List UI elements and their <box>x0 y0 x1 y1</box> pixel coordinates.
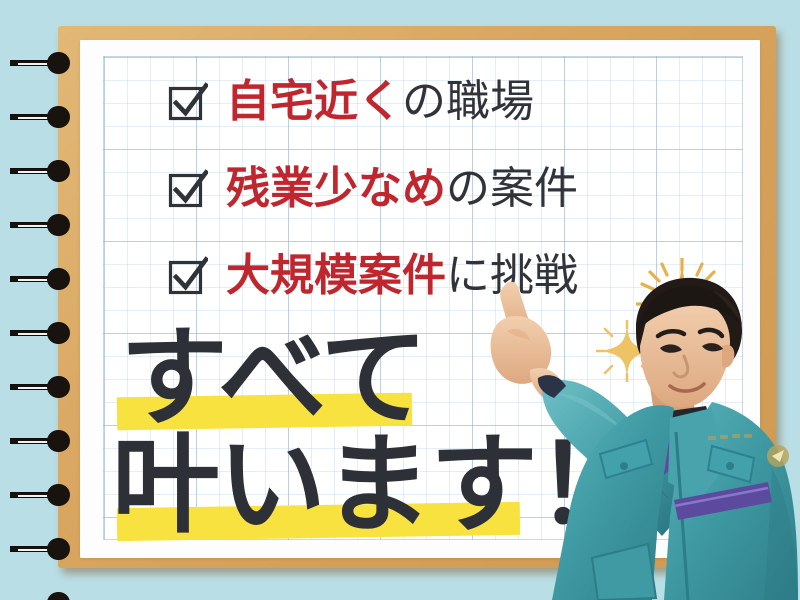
spiral-ring <box>10 217 72 233</box>
spiral-ring-head <box>48 484 70 506</box>
spiral-ring-head <box>48 268 70 290</box>
headline-line-1: すべて <box>120 325 426 433</box>
spiral-ring-head <box>48 52 70 74</box>
spiral-ring-head <box>48 214 70 236</box>
spiral-ring-head <box>48 160 70 182</box>
banner-canvas: 自宅近くの職場 残業少なめの案件 大規模案件に挑戦 すべて <box>0 0 800 600</box>
spiral-ring <box>10 55 72 71</box>
spiral-ring-head <box>48 376 70 398</box>
spiral-ring <box>10 379 72 395</box>
spiral-binding <box>0 0 110 600</box>
spiral-ring-head <box>48 106 70 128</box>
spiral-ring <box>10 271 72 287</box>
spiral-ring <box>10 163 72 179</box>
worker-photo <box>412 268 800 600</box>
spiral-ring-head <box>48 538 70 560</box>
spiral-ring <box>10 541 72 557</box>
spiral-ring-head <box>48 592 70 600</box>
spiral-ring <box>10 109 72 125</box>
spiral-ring <box>10 487 72 503</box>
spiral-ring-head <box>48 322 70 344</box>
spiral-ring <box>10 325 72 341</box>
spiral-ring <box>10 433 72 449</box>
spiral-ring-head <box>48 430 70 452</box>
spiral-ring <box>10 595 72 600</box>
